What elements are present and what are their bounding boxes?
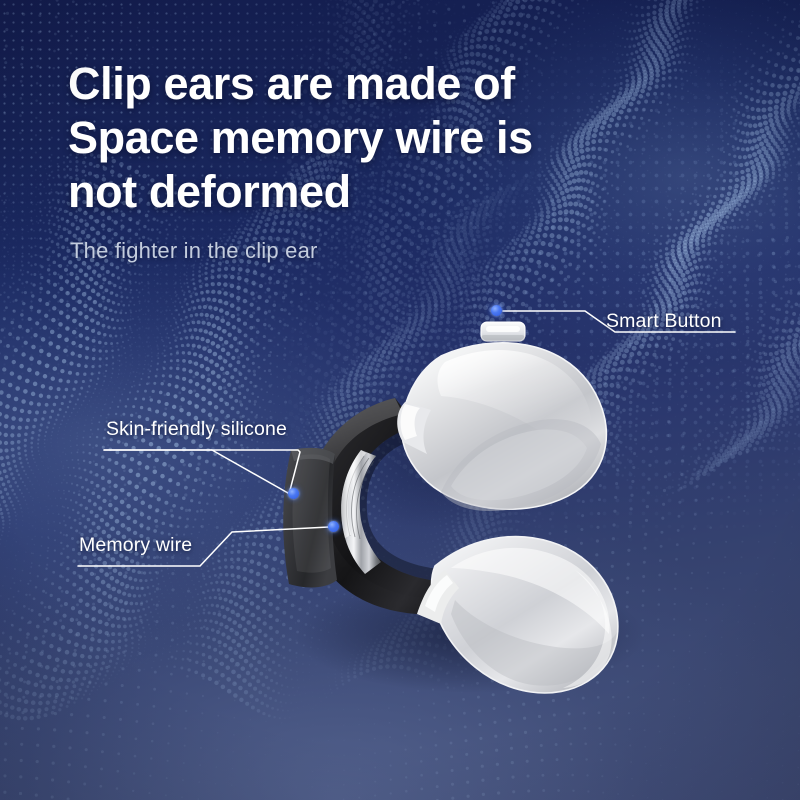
product-feature-poster: Clip ears are made of Space memory wire …: [0, 0, 800, 800]
vignette-overlay: [0, 0, 800, 800]
